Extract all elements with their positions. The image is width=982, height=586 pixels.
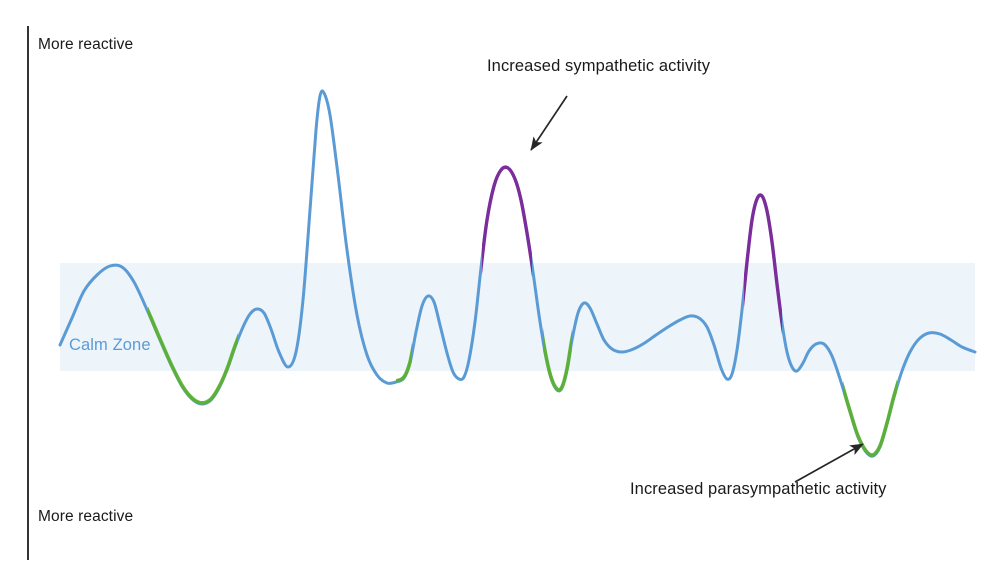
sympathetic-annotation-label: Increased sympathetic activity [487, 57, 710, 77]
calm-zone-label: Calm Zone [69, 336, 151, 356]
top-axis-label: More reactive [38, 36, 133, 55]
bottom-axis-label: More reactive [38, 508, 133, 527]
parasympathetic-arrow [795, 444, 863, 482]
parasympathetic-annotation-label: Increased parasympathetic activity [630, 480, 887, 500]
sympathetic-arrow [531, 96, 567, 150]
calm-zone-band [60, 263, 975, 371]
figure-root: More reactive More reactive Calm Zone In… [0, 0, 982, 586]
